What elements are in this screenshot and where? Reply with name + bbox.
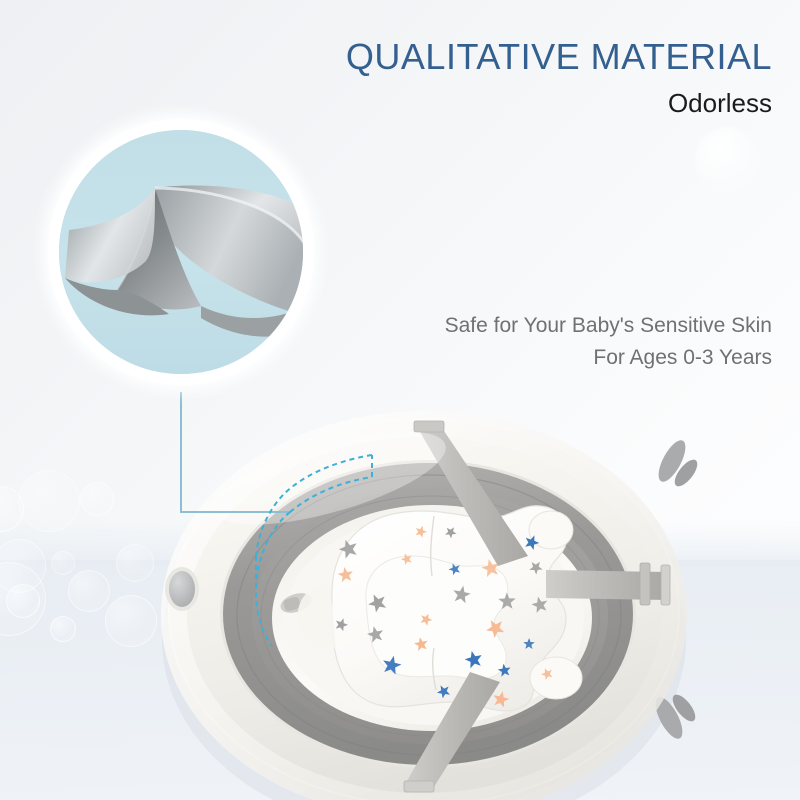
material-detail-inset (48, 119, 314, 385)
drain-plug (165, 567, 199, 611)
folded-silicone-sheet-icon (59, 130, 303, 374)
tagline-line-2: For Ages 0-3 Years (445, 342, 772, 374)
product-feature-banner: QUALITATIVE MATERIAL Odorless Safe for Y… (0, 0, 800, 800)
page-title: QUALITATIVE MATERIAL (0, 36, 772, 78)
tagline-block: Safe for Your Baby's Sensitive Skin For … (445, 310, 772, 374)
page-subtitle: Odorless (0, 88, 772, 119)
inset-disc (59, 130, 303, 374)
tagline-line-1: Safe for Your Baby's Sensitive Skin (445, 314, 772, 337)
tub-foot-tab-top (653, 436, 701, 489)
